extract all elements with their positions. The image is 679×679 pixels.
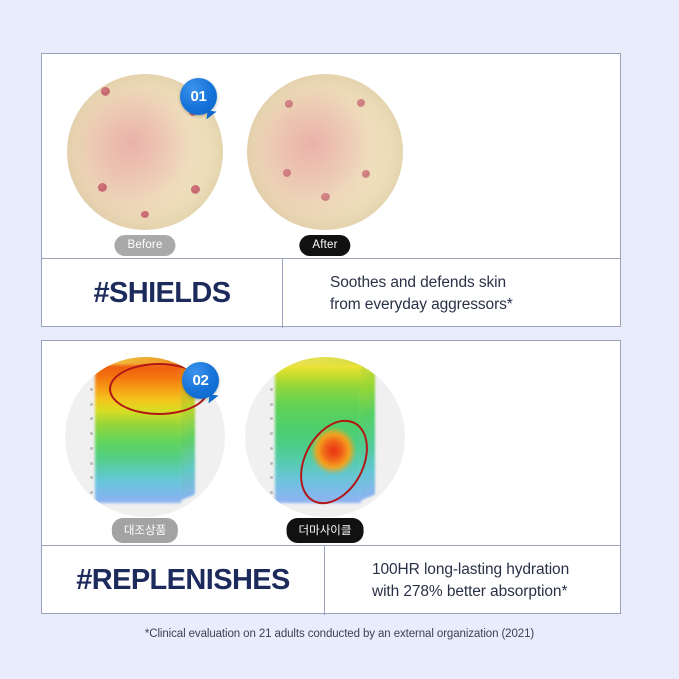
blemish-spot: [285, 100, 293, 108]
thermal-map-dermacycle: [245, 357, 405, 517]
blemish-spot: [321, 193, 330, 201]
blemish-spot: [98, 183, 107, 192]
step-badge-02: 02: [182, 362, 219, 399]
photo-label-after: After: [299, 235, 350, 256]
step-badge-01: 01: [180, 78, 217, 115]
blemish-spot: [357, 99, 365, 107]
claim-card-shields: Before After #SHIELDS Soothes and defend…: [41, 53, 621, 327]
axis-ticks-control: [88, 373, 95, 509]
blemish-spot: [283, 169, 291, 177]
claim-tag-replenishes: #REPLENISHES: [42, 546, 325, 615]
step-badge-number: 01: [190, 88, 206, 105]
thermal-visual: 대조상품 더마사이클: [42, 341, 620, 545]
claim-row-shields: #SHIELDS Soothes and defends skinfrom ev…: [42, 258, 620, 328]
before-after-visual: Before After: [42, 54, 620, 258]
blemish-spot: [141, 211, 149, 218]
thermal-label-dermacycle: 더마사이클: [287, 518, 364, 543]
step-badge-number: 02: [192, 372, 208, 389]
skin-photo-row: Before After: [42, 54, 620, 258]
blemish-spot: [362, 170, 370, 178]
infographic-page: Before After #SHIELDS Soothes and defend…: [0, 0, 679, 679]
clinical-footnote: *Clinical evaluation on 21 adults conduc…: [0, 628, 679, 640]
axis-ticks-dermacycle: [268, 373, 275, 509]
claim-tag-shields: #SHIELDS: [42, 259, 283, 328]
photo-label-before: Before: [114, 235, 175, 256]
claim-description-replenishes: 100HR long-lasting hydrationwith 278% be…: [325, 546, 620, 615]
skin-photo-after: [247, 74, 403, 230]
claim-card-replenishes: 대조상품 더마사이클 #REPLENISHES 100HR l: [41, 340, 621, 614]
claim-tag-label: #REPLENISHES: [76, 564, 290, 597]
blemish-spot: [101, 87, 110, 96]
claim-description-text: 100HR long-lasting hydrationwith 278% be…: [372, 559, 569, 603]
claim-row-replenishes: #REPLENISHES 100HR long-lasting hydratio…: [42, 545, 620, 615]
blemish-spot: [191, 185, 200, 194]
claim-description-text: Soothes and defends skinfrom everyday ag…: [330, 272, 513, 316]
claim-description-shields: Soothes and defends skinfrom everyday ag…: [283, 259, 620, 328]
claim-tag-label: #SHIELDS: [93, 277, 230, 310]
thermal-label-control: 대조상품: [112, 518, 178, 543]
